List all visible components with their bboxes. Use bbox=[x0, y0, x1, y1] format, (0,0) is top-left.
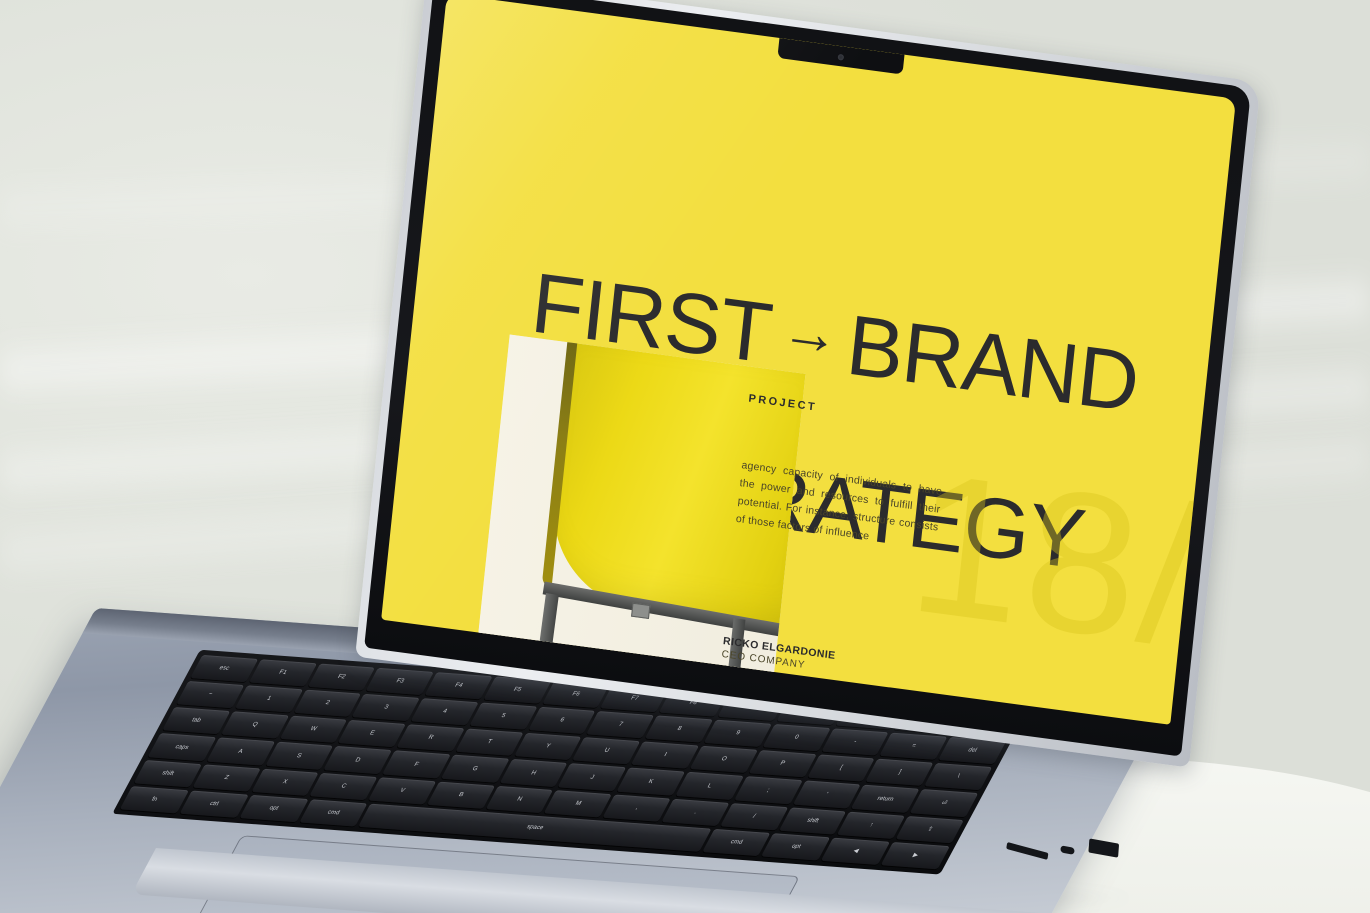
key[interactable]: G bbox=[441, 755, 509, 782]
key[interactable]: T bbox=[455, 729, 523, 756]
chair-bolt bbox=[631, 603, 650, 619]
key[interactable]: = bbox=[879, 733, 947, 760]
front-camera-icon bbox=[837, 54, 844, 61]
key[interactable]: W bbox=[279, 716, 347, 743]
key[interactable]: 8 bbox=[645, 716, 713, 743]
credit-name: GILAR ARNANDO bbox=[985, 718, 1080, 724]
key[interactable]: ⇧ bbox=[896, 816, 964, 843]
scene-root: escF1F2F3F4F5F6F7F8F9F10F11F12⏻ ~1234567… bbox=[0, 0, 1370, 913]
key[interactable]: ~ bbox=[176, 681, 244, 708]
laptop-device: escF1F2F3F4F5F6F7F8F9F10F11F12⏻ ~1234567… bbox=[0, 0, 1370, 913]
key[interactable]: Q bbox=[221, 712, 289, 739]
key[interactable]: 1 bbox=[235, 685, 303, 712]
key-control[interactable]: ctrl bbox=[179, 790, 248, 817]
key[interactable]: 5 bbox=[469, 703, 537, 730]
credit-primary: RICKO ELGARDONIE CEO COMPANY bbox=[721, 635, 836, 675]
key[interactable]: 0 bbox=[762, 724, 830, 751]
key[interactable]: O bbox=[690, 746, 758, 773]
key[interactable]: \ bbox=[924, 763, 992, 790]
key[interactable]: ⏎ bbox=[910, 790, 978, 817]
key[interactable]: X bbox=[251, 768, 319, 795]
key[interactable]: shift bbox=[779, 807, 847, 834]
arrow-right-icon: → bbox=[769, 300, 851, 366]
key[interactable]: F3 bbox=[366, 668, 434, 695]
key[interactable]: tab bbox=[162, 707, 230, 734]
key-arrow-right[interactable]: ▶ bbox=[881, 842, 950, 869]
screen-bezel: FIRST→BRAND STRATEGY bbox=[364, 0, 1251, 756]
key[interactable]: R bbox=[396, 725, 464, 752]
key[interactable]: F bbox=[382, 751, 450, 778]
key[interactable]: C bbox=[310, 773, 378, 800]
key[interactable]: Z bbox=[192, 764, 260, 791]
slide-watermark-number: 18/ bbox=[902, 442, 1211, 679]
key[interactable]: S bbox=[265, 742, 333, 769]
key-option-right[interactable]: opt bbox=[761, 833, 830, 860]
key[interactable]: B bbox=[427, 781, 495, 808]
usb-c-port-icon[interactable] bbox=[1060, 845, 1074, 854]
key[interactable]: shift bbox=[134, 760, 202, 787]
hdmi-port-icon[interactable] bbox=[1088, 838, 1119, 857]
key[interactable]: , bbox=[603, 794, 671, 821]
key[interactable]: 3 bbox=[352, 694, 420, 721]
key[interactable]: J bbox=[558, 764, 626, 791]
key[interactable]: esc bbox=[190, 655, 258, 682]
key[interactable]: Y bbox=[514, 733, 582, 760]
key[interactable]: - bbox=[821, 728, 889, 755]
key[interactable]: H bbox=[500, 759, 568, 786]
key[interactable]: 4 bbox=[410, 698, 478, 725]
display-screen[interactable]: FIRST→BRAND STRATEGY bbox=[381, 0, 1236, 725]
key[interactable]: F4 bbox=[424, 672, 492, 699]
key[interactable]: P bbox=[748, 750, 816, 777]
sd-card-slot-icon[interactable] bbox=[1006, 842, 1048, 860]
key[interactable]: 2 bbox=[293, 690, 361, 717]
key-fn[interactable]: fn bbox=[120, 786, 189, 813]
key[interactable]: F2 bbox=[307, 664, 375, 691]
key[interactable]: ] bbox=[865, 759, 933, 786]
presentation-slide: FIRST→BRAND STRATEGY bbox=[381, 0, 1236, 725]
key[interactable]: K bbox=[617, 768, 685, 795]
key[interactable]: . bbox=[661, 798, 729, 825]
key-command[interactable]: cmd bbox=[299, 799, 368, 826]
key[interactable]: caps bbox=[148, 734, 216, 761]
key[interactable]: F1 bbox=[249, 659, 317, 686]
key-arrow-left[interactable]: ◀ bbox=[821, 837, 890, 864]
laptop-lid: FIRST→BRAND STRATEGY bbox=[355, 0, 1261, 768]
key[interactable]: E bbox=[338, 720, 406, 747]
key[interactable]: I bbox=[631, 742, 699, 769]
key[interactable]: 6 bbox=[528, 707, 596, 734]
key[interactable]: U bbox=[572, 737, 640, 764]
key[interactable]: M bbox=[544, 790, 612, 817]
key[interactable]: ; bbox=[734, 777, 802, 804]
key[interactable]: 9 bbox=[704, 720, 772, 747]
key[interactable]: N bbox=[486, 786, 554, 813]
slide-text-column: PROJECT agency capacity of individuals t… bbox=[735, 393, 950, 555]
key-option[interactable]: opt bbox=[239, 795, 308, 822]
key[interactable]: ' bbox=[793, 781, 861, 808]
key-command-right[interactable]: cmd bbox=[702, 829, 771, 856]
key[interactable]: D bbox=[324, 746, 392, 773]
credit-secondary: GILAR ARNANDO PRODUCER bbox=[984, 718, 1080, 724]
key[interactable]: ↑ bbox=[837, 811, 905, 838]
key[interactable]: A bbox=[206, 738, 274, 765]
key[interactable]: [ bbox=[807, 755, 875, 782]
key[interactable]: / bbox=[720, 803, 788, 830]
key[interactable]: L bbox=[675, 772, 743, 799]
key[interactable]: 7 bbox=[586, 711, 654, 738]
key[interactable]: V bbox=[368, 777, 436, 804]
key[interactable]: return bbox=[851, 785, 919, 812]
